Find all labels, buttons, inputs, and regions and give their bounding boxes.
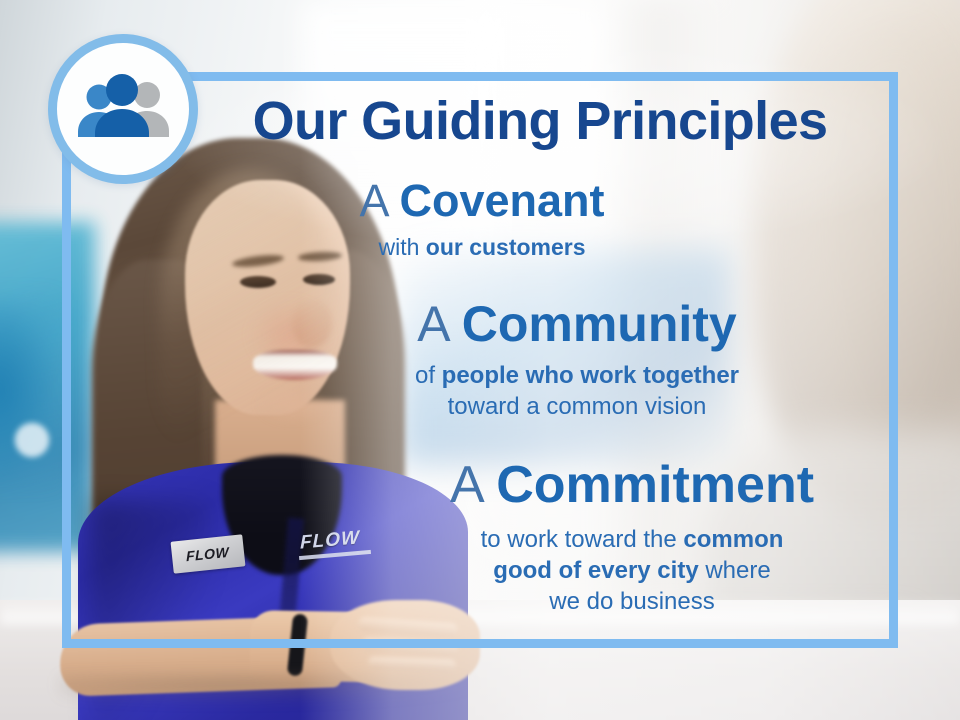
principle-subtext-emphasis: our customers — [426, 234, 586, 260]
principle-keyword: Covenant — [400, 175, 605, 226]
principle-block-covenant: A Covenant with our customers — [242, 178, 722, 263]
principle-subtext-emphasis-2: good of every city — [493, 557, 698, 584]
principle-keyword: Community — [462, 296, 737, 352]
principle-subtext-lead: with — [378, 234, 425, 260]
text-content: Our Guiding Principles A Covenant with o… — [62, 72, 898, 648]
principle-keyword: Commitment — [496, 456, 814, 514]
principle-block-commitment: A Commitment to work toward the common g… — [372, 458, 892, 618]
principle-subtext-community: of people who work together toward a com… — [312, 360, 842, 422]
principle-heading-community: A Community — [312, 298, 842, 350]
principle-heading-covenant: A Covenant — [242, 178, 722, 225]
principle-subtext-lead: of — [415, 362, 442, 389]
principle-subtext-line2: toward a common vision — [448, 393, 707, 420]
principle-subtext-emphasis: people who work together — [442, 362, 739, 389]
principle-article: A — [359, 175, 399, 226]
principle-subtext-commitment: to work toward the common good of every … — [372, 524, 892, 618]
page-title: Our Guiding Principles — [220, 94, 860, 148]
principle-subtext-emphasis: common — [683, 526, 783, 553]
principle-subtext-lead: to work toward the — [481, 526, 684, 553]
arm-desk-shadow — [60, 676, 480, 702]
principle-subtext-line3: we do business — [549, 588, 714, 615]
principle-subtext-covenant: with our customers — [242, 233, 722, 263]
principle-article: A — [417, 296, 461, 352]
principle-subtext-tail: where — [699, 557, 771, 584]
principle-article: A — [450, 456, 496, 514]
principle-heading-commitment: A Commitment — [372, 458, 892, 512]
guiding-principles-graphic: FLOW FLOW — [0, 0, 960, 720]
principle-block-community: A Community of people who work together … — [312, 298, 842, 422]
